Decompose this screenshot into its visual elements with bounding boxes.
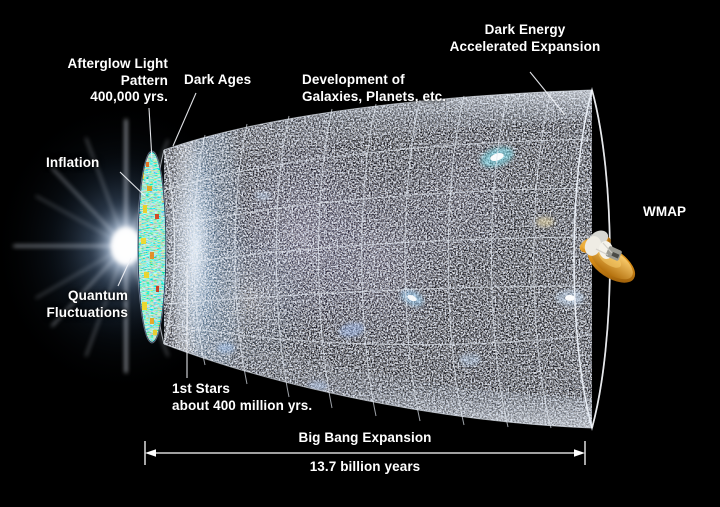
label-dark-energy: Dark Energy Accelerated Expansion [425, 22, 625, 55]
label-dark-ages: Dark Ages [184, 72, 251, 89]
label-quantum-fluctuations: Quantum Fluctuations [47, 288, 128, 321]
label-big-bang-expansion: Big Bang Expansion [250, 430, 480, 447]
label-first-stars: 1st Stars about 400 million yrs. [172, 381, 312, 414]
label-duration: 13.7 billion years [250, 459, 480, 476]
universe-timeline-figure: Afterglow Light Pattern 400,000 yrs. Dar… [0, 0, 720, 507]
label-afterglow-light: Afterglow Light Pattern 400,000 yrs. [68, 56, 168, 106]
label-development-of-galaxies: Development of Galaxies, Planets, etc. [302, 72, 446, 105]
label-wmap: WMAP [643, 204, 686, 221]
label-inflation: Inflation [46, 155, 99, 172]
